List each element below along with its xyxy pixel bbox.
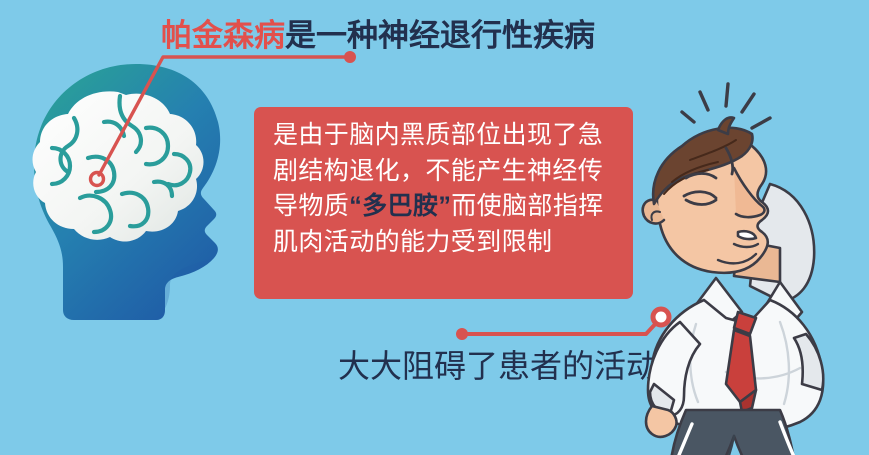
definition-callout-text: 是由于脑内黑质部位出现了急剧结构退化，不能产生神经传导物质“多巴胺”而使脑部指挥… (273, 118, 617, 260)
parkinsons-patient-illustration (630, 72, 869, 455)
page-title-highlight: 帕金森病 (161, 18, 285, 53)
page-title-rest: 是一种神经退行性疾病 (285, 18, 595, 53)
infographic-canvas: 帕金森病是一种神经退行性疾病 是由于脑内黑质部位出现了急剧结构退化，不能产生神经… (0, 0, 869, 455)
definition-quote-open: “ (349, 192, 362, 220)
connector-bottom-dot-icon (456, 328, 468, 340)
definition-emphasis-dopamine: 多巴胺 (362, 192, 438, 220)
definition-callout-box: 是由于脑内黑质部位出现了急剧结构退化，不能产生神经传导物质“多巴胺”而使脑部指挥… (254, 107, 633, 299)
human-head-brain-illustration (18, 62, 258, 324)
definition-quote-close: ” (438, 192, 451, 220)
page-title: 帕金森病是一种神经退行性疾病 (161, 18, 595, 54)
